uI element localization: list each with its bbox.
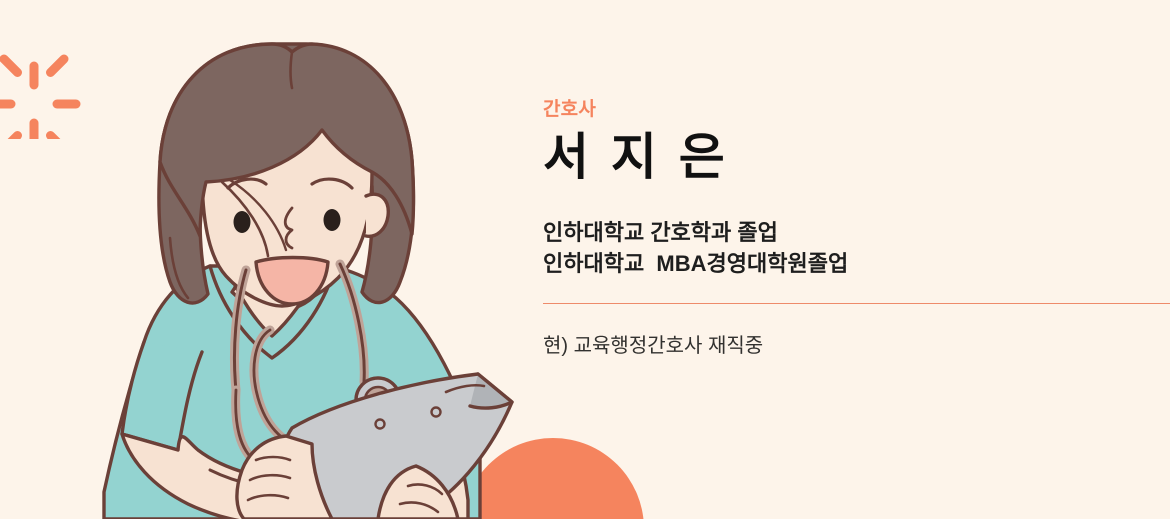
education-line-2: 인하대학교 MBA경영대학원졸업: [543, 248, 1143, 279]
role-label: 간호사: [543, 100, 1143, 121]
eye-right: [324, 209, 341, 231]
current-position: 현) 교육행정간호사 재직중: [543, 332, 763, 360]
clipboard-hole-left: [376, 420, 385, 429]
person-name: 서 지 은: [543, 129, 1143, 185]
hair-part: [291, 52, 293, 88]
nurse-profile-banner: 간호사 서 지 은 인하대학교 간호학과 졸업 인하대학교 MBA경영대학원졸업…: [0, 0, 1170, 519]
sunburst-ray-nw: [4, 59, 18, 73]
clipboard-hole-right: [432, 408, 441, 417]
eye-left: [234, 211, 251, 233]
section-divider: [543, 303, 1170, 304]
education-line-1: 인하대학교 간호학과 졸업: [543, 217, 1143, 248]
nurse-illustration: [60, 30, 520, 519]
profile-text-block: 간호사 서 지 은 인하대학교 간호학과 졸업 인하대학교 MBA경영대학원졸업: [543, 100, 1143, 279]
sunburst-ray-sw: [4, 136, 18, 140]
